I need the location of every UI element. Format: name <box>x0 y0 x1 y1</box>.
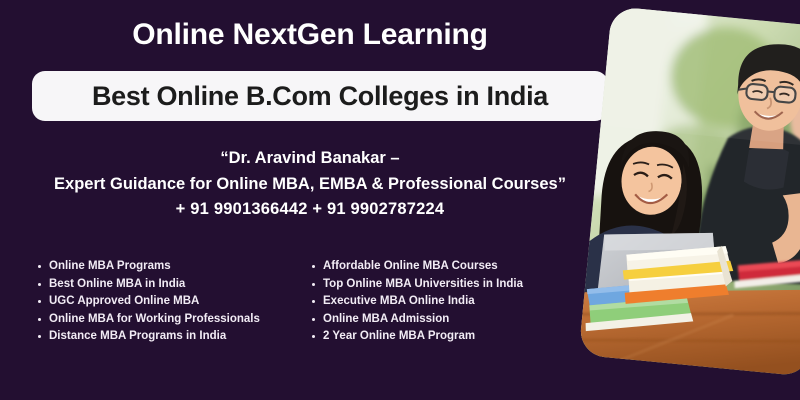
list-item: Affordable Online MBA Courses <box>312 258 600 276</box>
list-item-label: Online MBA Admission <box>323 313 449 325</box>
student-photo-illustration <box>579 6 800 376</box>
bullet-dot-icon <box>38 283 41 286</box>
quote-block: “Dr. Aravind Banakar – Expert Guidance f… <box>0 146 620 223</box>
list-item: Online MBA for Working Professionals <box>38 311 300 329</box>
list-item: Distance MBA Programs in India <box>38 328 300 346</box>
bullet-dot-icon <box>38 318 41 321</box>
list-item: Executive MBA Online India <box>312 293 600 311</box>
bullet-dot-icon <box>38 265 41 268</box>
bullet-dot-icon <box>312 300 315 303</box>
list-item-label: Executive MBA Online India <box>323 295 475 307</box>
list-item-label: Affordable Online MBA Courses <box>323 260 498 272</box>
bullet-dot-icon <box>312 265 315 268</box>
bullet-column-right: Affordable Online MBA Courses Top Online… <box>300 258 600 346</box>
quote-line-1: “Dr. Aravind Banakar – <box>0 146 620 172</box>
list-item: Top Online MBA Universities in India <box>312 276 600 294</box>
list-item-label: Online MBA for Working Professionals <box>49 313 260 325</box>
contact-phone-numbers: + 91 9901366442 + 91 9902787224 <box>0 197 620 223</box>
list-item: 2 Year Online MBA Program <box>312 328 600 346</box>
list-item: UGC Approved Online MBA <box>38 293 300 311</box>
list-item-label: Online MBA Programs <box>49 260 171 272</box>
bullet-column-left: Online MBA Programs Best Online MBA in I… <box>0 258 300 346</box>
list-item: Online MBA Programs <box>38 258 300 276</box>
list-item: Best Online MBA in India <box>38 276 300 294</box>
student-photo-card <box>579 6 800 376</box>
student-photo <box>579 6 800 376</box>
list-item-label: UGC Approved Online MBA <box>49 295 199 307</box>
list-item-label: 2 Year Online MBA Program <box>323 330 475 342</box>
list-item-label: Best Online MBA in India <box>49 278 185 290</box>
bullet-dot-icon <box>38 335 41 338</box>
bullet-dot-icon <box>38 300 41 303</box>
pill-title-text: Best Online B.Com Colleges in India <box>92 81 548 112</box>
list-item-label: Distance MBA Programs in India <box>49 330 226 342</box>
quote-line-2: Expert Guidance for Online MBA, EMBA & P… <box>0 172 620 198</box>
promo-banner: Online NextGen Learning Best Online B.Co… <box>0 0 800 400</box>
bullet-dot-icon <box>312 318 315 321</box>
title-pill: Best Online B.Com Colleges in India <box>32 71 608 121</box>
bullet-dot-icon <box>312 335 315 338</box>
bullet-dot-icon <box>312 283 315 286</box>
list-item: Online MBA Admission <box>312 311 600 329</box>
keyword-bullet-lists: Online MBA Programs Best Online MBA in I… <box>0 258 620 346</box>
brand-title: Online NextGen Learning <box>0 18 620 51</box>
list-item-label: Top Online MBA Universities in India <box>323 278 523 290</box>
